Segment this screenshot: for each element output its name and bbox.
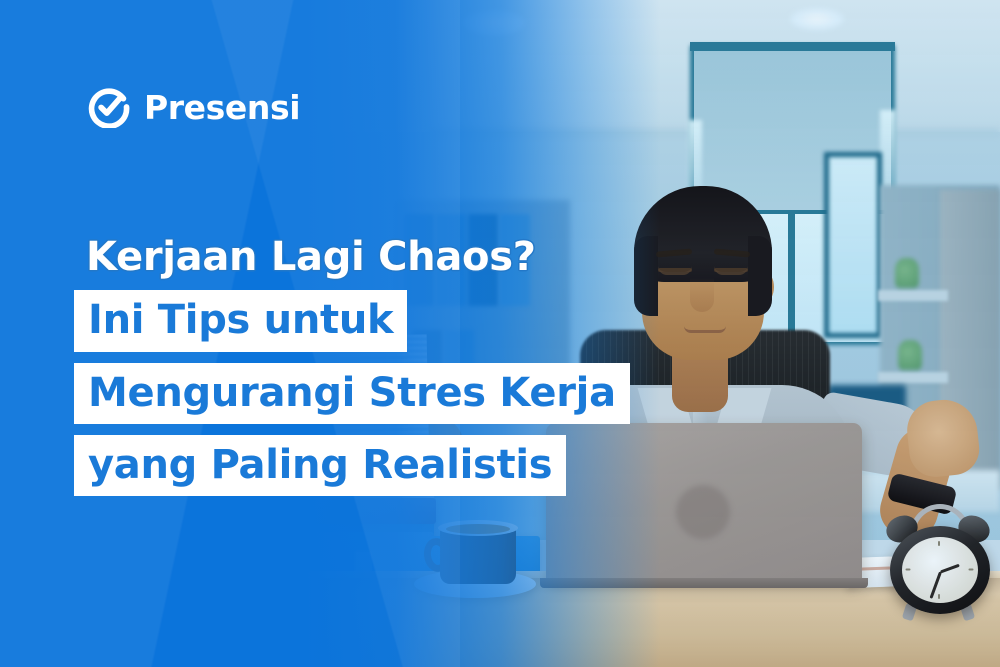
brand-logo[interactable]: Presensi — [88, 86, 300, 128]
headline-block: Kerjaan Lagi Chaos? Ini Tips untuk Mengu… — [74, 234, 634, 496]
headline-line-2: Ini Tips untuk — [74, 290, 407, 351]
brand-name: Presensi — [144, 91, 300, 124]
headline-line-1: Kerjaan Lagi Chaos? — [74, 234, 536, 281]
blog-banner: Presensi Kerjaan Lagi Chaos? Ini Tips un… — [0, 0, 1000, 667]
headline-line-3: Mengurangi Stres Kerja — [74, 363, 630, 424]
headline-line-4: yang Paling Realistis — [74, 435, 566, 496]
check-circle-icon — [88, 86, 130, 128]
